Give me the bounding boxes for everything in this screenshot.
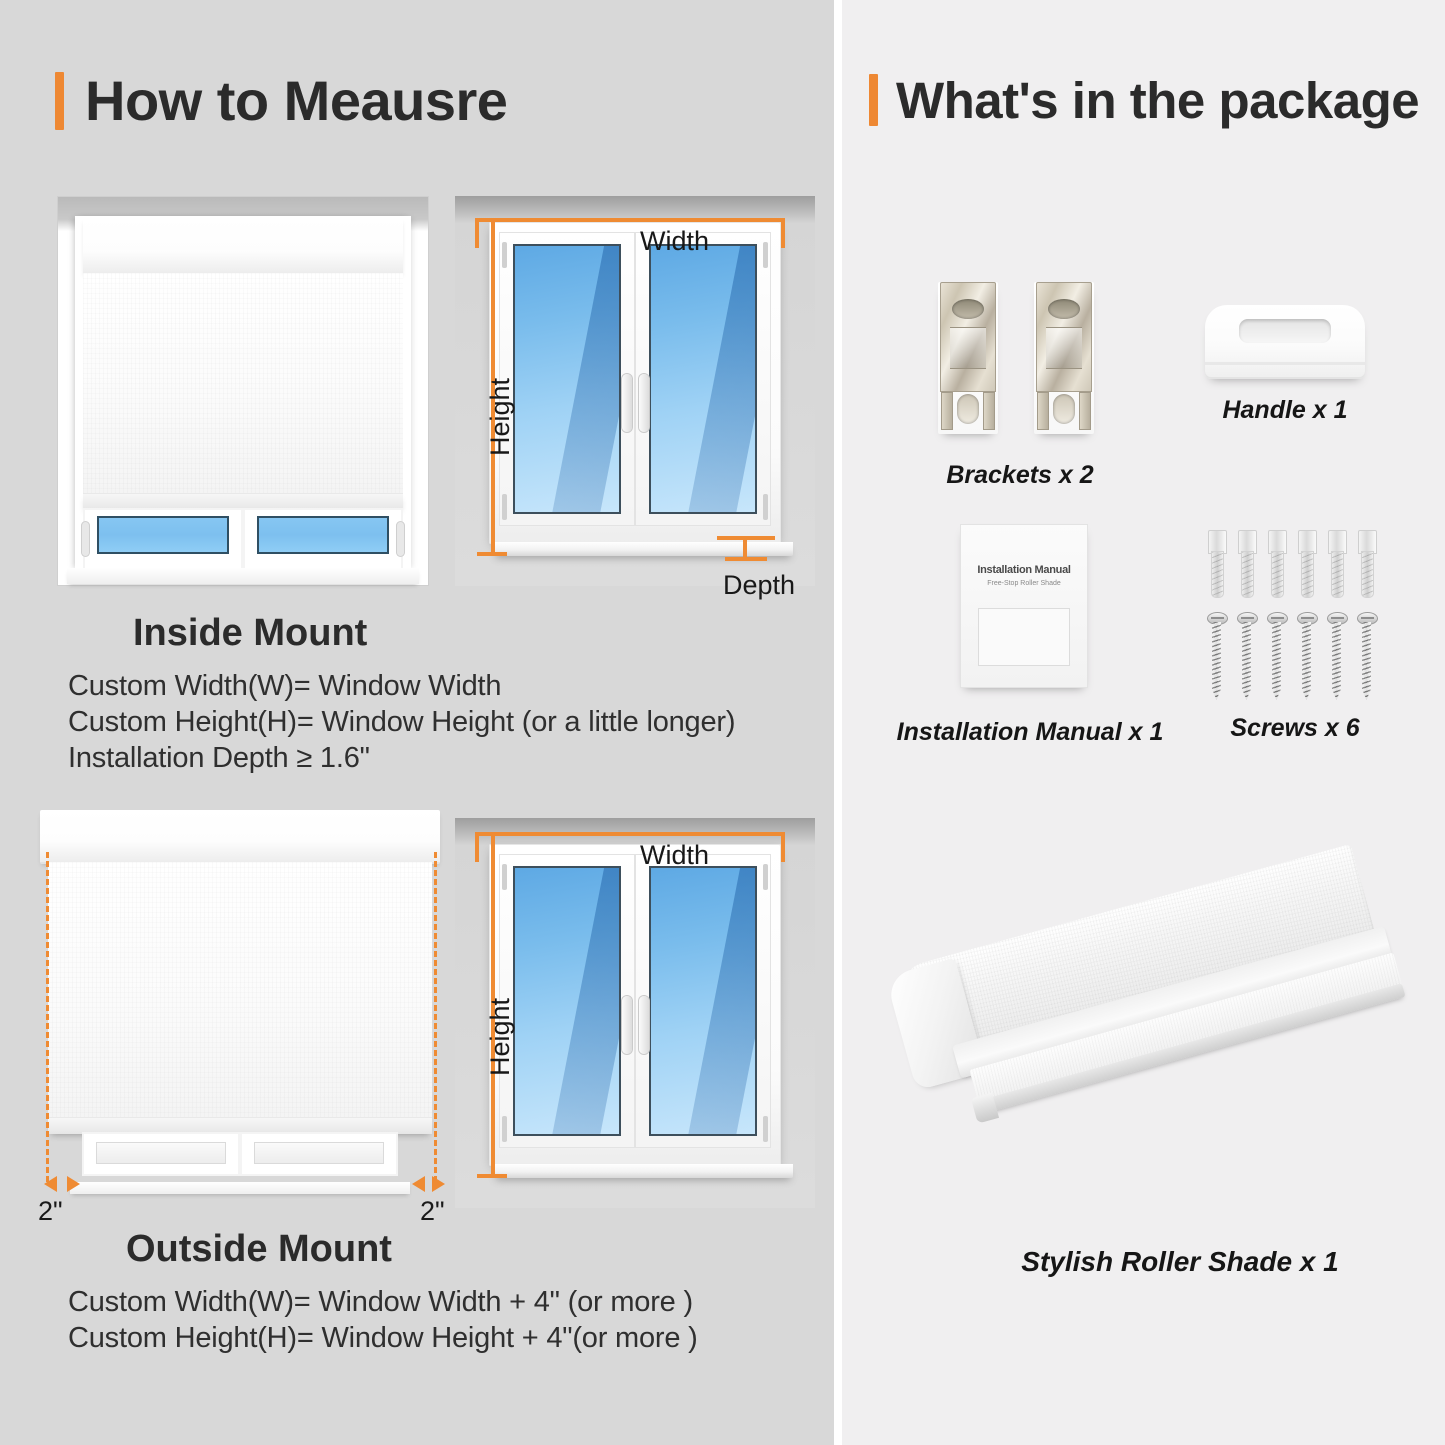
overhang-label-left: 2" xyxy=(38,1196,63,1227)
manual-cover-figure xyxy=(978,608,1070,666)
bracket-part-1 xyxy=(938,282,998,434)
anchor-body xyxy=(1331,551,1344,598)
window-handles xyxy=(622,996,649,1054)
handle-label: Handle x 1 xyxy=(1165,396,1405,425)
inside-mount-spec-3: Installation Depth ≥ 1.6" xyxy=(68,742,370,775)
sash-handle-icon xyxy=(82,522,89,556)
window-pane xyxy=(254,1142,384,1164)
window-glass xyxy=(649,866,757,1136)
hinge-icon xyxy=(502,864,507,890)
height-label: Height xyxy=(485,378,516,456)
anchor-body xyxy=(1271,551,1284,598)
window-sash-left xyxy=(499,854,635,1148)
overhang-arrow-left xyxy=(44,1176,57,1192)
window-sash-left xyxy=(83,508,243,570)
window-sash-left xyxy=(82,1132,240,1176)
wall-anchor-6 xyxy=(1358,530,1375,596)
outside-mount-title: Outside Mount xyxy=(126,1228,392,1271)
screw-5 xyxy=(1329,612,1344,700)
screw-shaft xyxy=(1272,622,1281,700)
shade-fabric xyxy=(83,273,403,494)
window-sill xyxy=(493,542,793,556)
window-handle-icon xyxy=(622,996,632,1054)
wall-anchor-2 xyxy=(1238,530,1255,596)
bracket-tab-left xyxy=(941,392,953,430)
panel-divider xyxy=(834,0,842,1445)
shade-headrail xyxy=(83,218,403,275)
manual-cover-subtitle: Free-Stop Roller Shade xyxy=(968,580,1080,587)
bracket-metal xyxy=(1036,282,1092,392)
width-label: Width xyxy=(640,226,709,257)
anchor-body xyxy=(1361,551,1374,598)
screw-4 xyxy=(1299,612,1314,700)
outside-mount-shade-illustration xyxy=(40,810,440,1200)
screw-shaft xyxy=(1302,622,1311,700)
window-sill xyxy=(493,1164,793,1178)
hinge-icon xyxy=(763,864,768,890)
how-to-measure-heading: How to Meausre xyxy=(55,72,507,130)
screw-shaft xyxy=(1212,622,1221,700)
overhang-guide-right xyxy=(434,852,437,1182)
wall-anchor-1 xyxy=(1208,530,1225,596)
sash-handle-icon xyxy=(397,522,404,556)
width-measure-cap xyxy=(475,218,479,248)
window-sash-right xyxy=(635,232,771,526)
manual-cover-title: Installation Manual xyxy=(968,564,1080,576)
bracket-metal xyxy=(940,282,996,392)
package-heading-text: What's in the package xyxy=(896,75,1419,126)
hinge-icon xyxy=(502,242,507,268)
accent-bar-icon xyxy=(869,74,878,126)
height-measure-cap xyxy=(477,1174,507,1178)
inside-mount-shade-illustration xyxy=(57,196,429,586)
hinge-icon xyxy=(502,494,507,520)
window-glass xyxy=(513,866,621,1136)
roller-shade-product xyxy=(910,900,1430,1200)
handle-part xyxy=(1205,305,1365,379)
overhang-arrow-right xyxy=(432,1176,445,1192)
window-handle-icon xyxy=(622,374,632,432)
height-measure-cap xyxy=(477,218,507,222)
height-measure-cap xyxy=(477,552,507,556)
overhang-arrow-right-in xyxy=(412,1176,425,1192)
how-to-measure-heading-text: How to Meausre xyxy=(85,73,507,129)
anchor-body xyxy=(1301,551,1314,598)
inside-mount-spec-2: Custom Height(H)= Window Height (or a li… xyxy=(68,706,735,739)
bracket-tab-right xyxy=(1079,392,1091,430)
width-measure-cap xyxy=(781,218,785,248)
depth-measure-base xyxy=(725,557,767,561)
infographic-canvas: How to Meausre What's in the package xyxy=(0,0,1445,1445)
wall-anchor-4 xyxy=(1298,530,1315,596)
window-sash-right xyxy=(240,1132,398,1176)
window-handle-icon xyxy=(639,374,649,432)
window-pane xyxy=(257,516,389,554)
width-measure-line xyxy=(475,218,785,222)
window-glass-strip xyxy=(83,508,403,570)
brackets-label: Brackets x 2 xyxy=(900,461,1140,490)
roller-shade-label: Stylish Roller Shade x 1 xyxy=(950,1246,1410,1278)
overhang-arrow-left-in xyxy=(67,1176,80,1192)
inside-mount-title: Inside Mount xyxy=(133,612,367,655)
screw-3 xyxy=(1269,612,1284,700)
window-sill xyxy=(70,1182,410,1194)
wall-anchor-5 xyxy=(1328,530,1345,596)
window-sash-right xyxy=(635,854,771,1148)
package-heading: What's in the package xyxy=(869,74,1419,126)
screws-label: Screws x 6 xyxy=(1175,714,1415,743)
window-sash-left xyxy=(499,232,635,526)
hinge-icon xyxy=(502,1116,507,1142)
bracket-hole xyxy=(1053,394,1075,424)
height-label: Height xyxy=(485,998,516,1076)
overhang-label-right: 2" xyxy=(420,1196,445,1227)
window-glass-strip xyxy=(82,1132,398,1176)
inside-mount-spec-1: Custom Width(W)= Window Width xyxy=(68,670,501,703)
window-glass xyxy=(513,244,621,514)
window-handle-icon xyxy=(639,996,649,1054)
bracket-tab-left xyxy=(1037,392,1049,430)
height-measure-cap xyxy=(477,832,507,836)
hinge-icon xyxy=(763,242,768,268)
overhang-guide-left xyxy=(46,852,49,1182)
bracket-tab-right xyxy=(983,392,995,430)
hinge-icon xyxy=(763,494,768,520)
anchor-body xyxy=(1241,551,1254,598)
bracket-part-2 xyxy=(1034,282,1094,434)
window-pane xyxy=(97,516,229,554)
installation-manual-part: Installation Manual Free-Stop Roller Sha… xyxy=(960,524,1088,688)
window-handles xyxy=(622,374,649,432)
wall-anchor-3 xyxy=(1268,530,1285,596)
installation-manual-label: Installation Manual x 1 xyxy=(890,718,1170,747)
window-glass xyxy=(649,244,757,514)
screw-6 xyxy=(1359,612,1374,700)
outside-mount-measure-diagram: Width Height xyxy=(455,818,815,1208)
screw-2 xyxy=(1239,612,1254,700)
shade-headrail xyxy=(40,810,440,864)
anchor-body xyxy=(1211,551,1224,598)
bracket-hole xyxy=(957,394,979,424)
width-label: Width xyxy=(640,840,709,871)
outside-mount-spec-2: Custom Height(H)= Window Height + 4"(or … xyxy=(68,1322,698,1355)
width-measure-cap xyxy=(781,832,785,862)
screw-shaft xyxy=(1362,622,1371,700)
outside-mount-spec-1: Custom Width(W)= Window Width + 4" (or m… xyxy=(68,1286,693,1319)
window-sash-right xyxy=(243,508,403,570)
window-sill xyxy=(67,568,419,584)
depth-measure-stem xyxy=(743,539,747,559)
inside-mount-measure-diagram: Width Height Depth xyxy=(455,196,815,586)
width-measure-line xyxy=(475,832,785,836)
width-measure-cap xyxy=(475,832,479,862)
shade-fabric xyxy=(48,862,432,1118)
depth-label: Depth xyxy=(723,570,795,601)
accent-bar-icon xyxy=(55,72,64,130)
screw-shaft xyxy=(1242,622,1251,700)
window-pane xyxy=(96,1142,226,1164)
screw-1 xyxy=(1209,612,1224,700)
screw-shaft xyxy=(1332,622,1341,700)
hinge-icon xyxy=(763,1116,768,1142)
